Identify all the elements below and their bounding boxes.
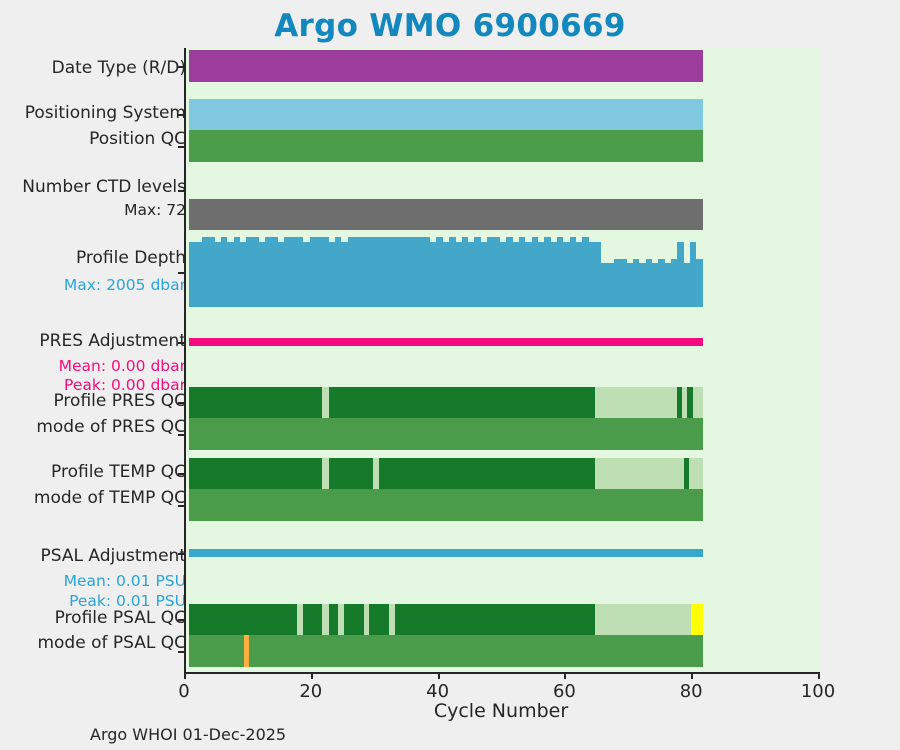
bar-mode-temp-qc-seg-0 — [189, 489, 703, 521]
y-axis-label-pres-adjustment: PRES Adjustment — [39, 333, 186, 351]
bar-profile-psal-qc-seg-0 — [189, 604, 303, 635]
argo-float-summary-figure: Argo WMO 6900669 Date Type (R/D)Position… — [0, 0, 900, 750]
x-axis-ticklabel-100: 100 — [788, 681, 848, 702]
y-axis-label-psal-adjustment-sub2: Peak: 0.01 PSU — [69, 593, 186, 609]
x-axis-tick-40 — [438, 672, 440, 679]
x-axis-ticklabel-20: 20 — [281, 681, 341, 702]
x-axis-tick-60 — [564, 672, 566, 679]
y-axis-label-profile-pres-qc: Profile PRES QC — [53, 393, 186, 411]
y-axis-label-date-type: Date Type (R/D) — [52, 60, 186, 78]
bar-profile-pres-qc-seg-2 — [329, 387, 602, 418]
x-axis-line — [184, 672, 818, 674]
x-axis-tick-100 — [818, 672, 820, 679]
x-axis-ticklabel-0: 0 — [154, 681, 214, 702]
x-axis-tick-0 — [184, 672, 186, 679]
bar-mode-pres-qc-seg-0 — [189, 418, 703, 450]
x-axis-ticklabel-60: 60 — [534, 681, 594, 702]
y-axis-label-positioning-system: Positioning System — [25, 105, 186, 123]
bar-profile-pres-qc-seg-0 — [189, 387, 328, 418]
bar-pres-adjustment-seg-0 — [189, 338, 703, 346]
bar-mode-psal-qc-seg-2 — [249, 635, 702, 667]
x-axis-ticklabel-40: 40 — [408, 681, 468, 702]
bar-profile-pres-qc-seg-3 — [595, 387, 684, 418]
bar-mode-psal-qc-seg-0 — [189, 635, 250, 667]
bar-profile-temp-qc-seg-2 — [329, 458, 380, 489]
plot-bars-container — [186, 48, 820, 672]
footer-credit: Argo WHOI 01-Dec-2025 — [90, 725, 286, 744]
bar-profile-psal-qc-seg-12 — [691, 604, 702, 635]
y-axis-label-profile-psal-qc: Profile PSAL QC — [55, 610, 186, 628]
bar-profile-temp-qc-seg-7 — [689, 458, 703, 489]
bar-date-type-seg-0 — [189, 50, 703, 82]
bar-psal-adjustment-seg-0 — [189, 549, 703, 557]
y-axis-label-profile-temp-qc: Profile TEMP QC — [51, 464, 186, 482]
x-axis-tick-20 — [311, 672, 313, 679]
bar-profile-pres-qc-seg-7 — [693, 387, 703, 418]
x-axis-tick-80 — [691, 672, 693, 679]
bar-profile-temp-qc-seg-5 — [595, 458, 690, 489]
bar-profile-psal-qc-seg-11 — [595, 604, 698, 635]
y-axis-label-mode-psal-qc: mode of PSAL QC — [37, 635, 186, 653]
bar-ctd-levels-seg-0 — [189, 199, 703, 230]
bar-profile-temp-qc-seg-4 — [379, 458, 601, 489]
y-axis-label-profile-depth-sub1: Max: 2005 dbar — [64, 277, 186, 293]
x-axis-label: Cycle Number — [184, 700, 818, 722]
y-axis-label-ctd-levels: Number CTD levels — [22, 179, 186, 197]
y-axis-label-profile-depth: Profile Depth — [76, 250, 186, 268]
y-axis-label-pres-adjustment-sub1: Mean: 0.00 dbar — [59, 358, 186, 374]
bar-profile-depth-cycle-81 — [696, 259, 702, 307]
plot-area — [184, 48, 820, 672]
x-axis-ticklabel-80: 80 — [661, 681, 721, 702]
bar-profile-psal-qc-seg-10 — [395, 604, 602, 635]
page-title: Argo WMO 6900669 — [0, 8, 900, 44]
y-axis-label-psal-adjustment: PSAL Adjustment — [41, 548, 186, 566]
y-axis-label-position-qc: Position QC — [89, 131, 186, 149]
y-axis-label-mode-temp-qc: mode of TEMP QC — [34, 490, 186, 508]
bar-position-qc-seg-0 — [189, 130, 703, 162]
y-axis-label-mode-pres-qc: mode of PRES QC — [36, 419, 186, 437]
y-axis-label-psal-adjustment-sub1: Mean: 0.01 PSU — [64, 573, 186, 589]
bar-positioning-system-seg-0 — [189, 99, 703, 130]
bar-profile-temp-qc-seg-0 — [189, 458, 328, 489]
y-axis-label-ctd-levels-sub1: Max: 72 — [124, 202, 186, 218]
